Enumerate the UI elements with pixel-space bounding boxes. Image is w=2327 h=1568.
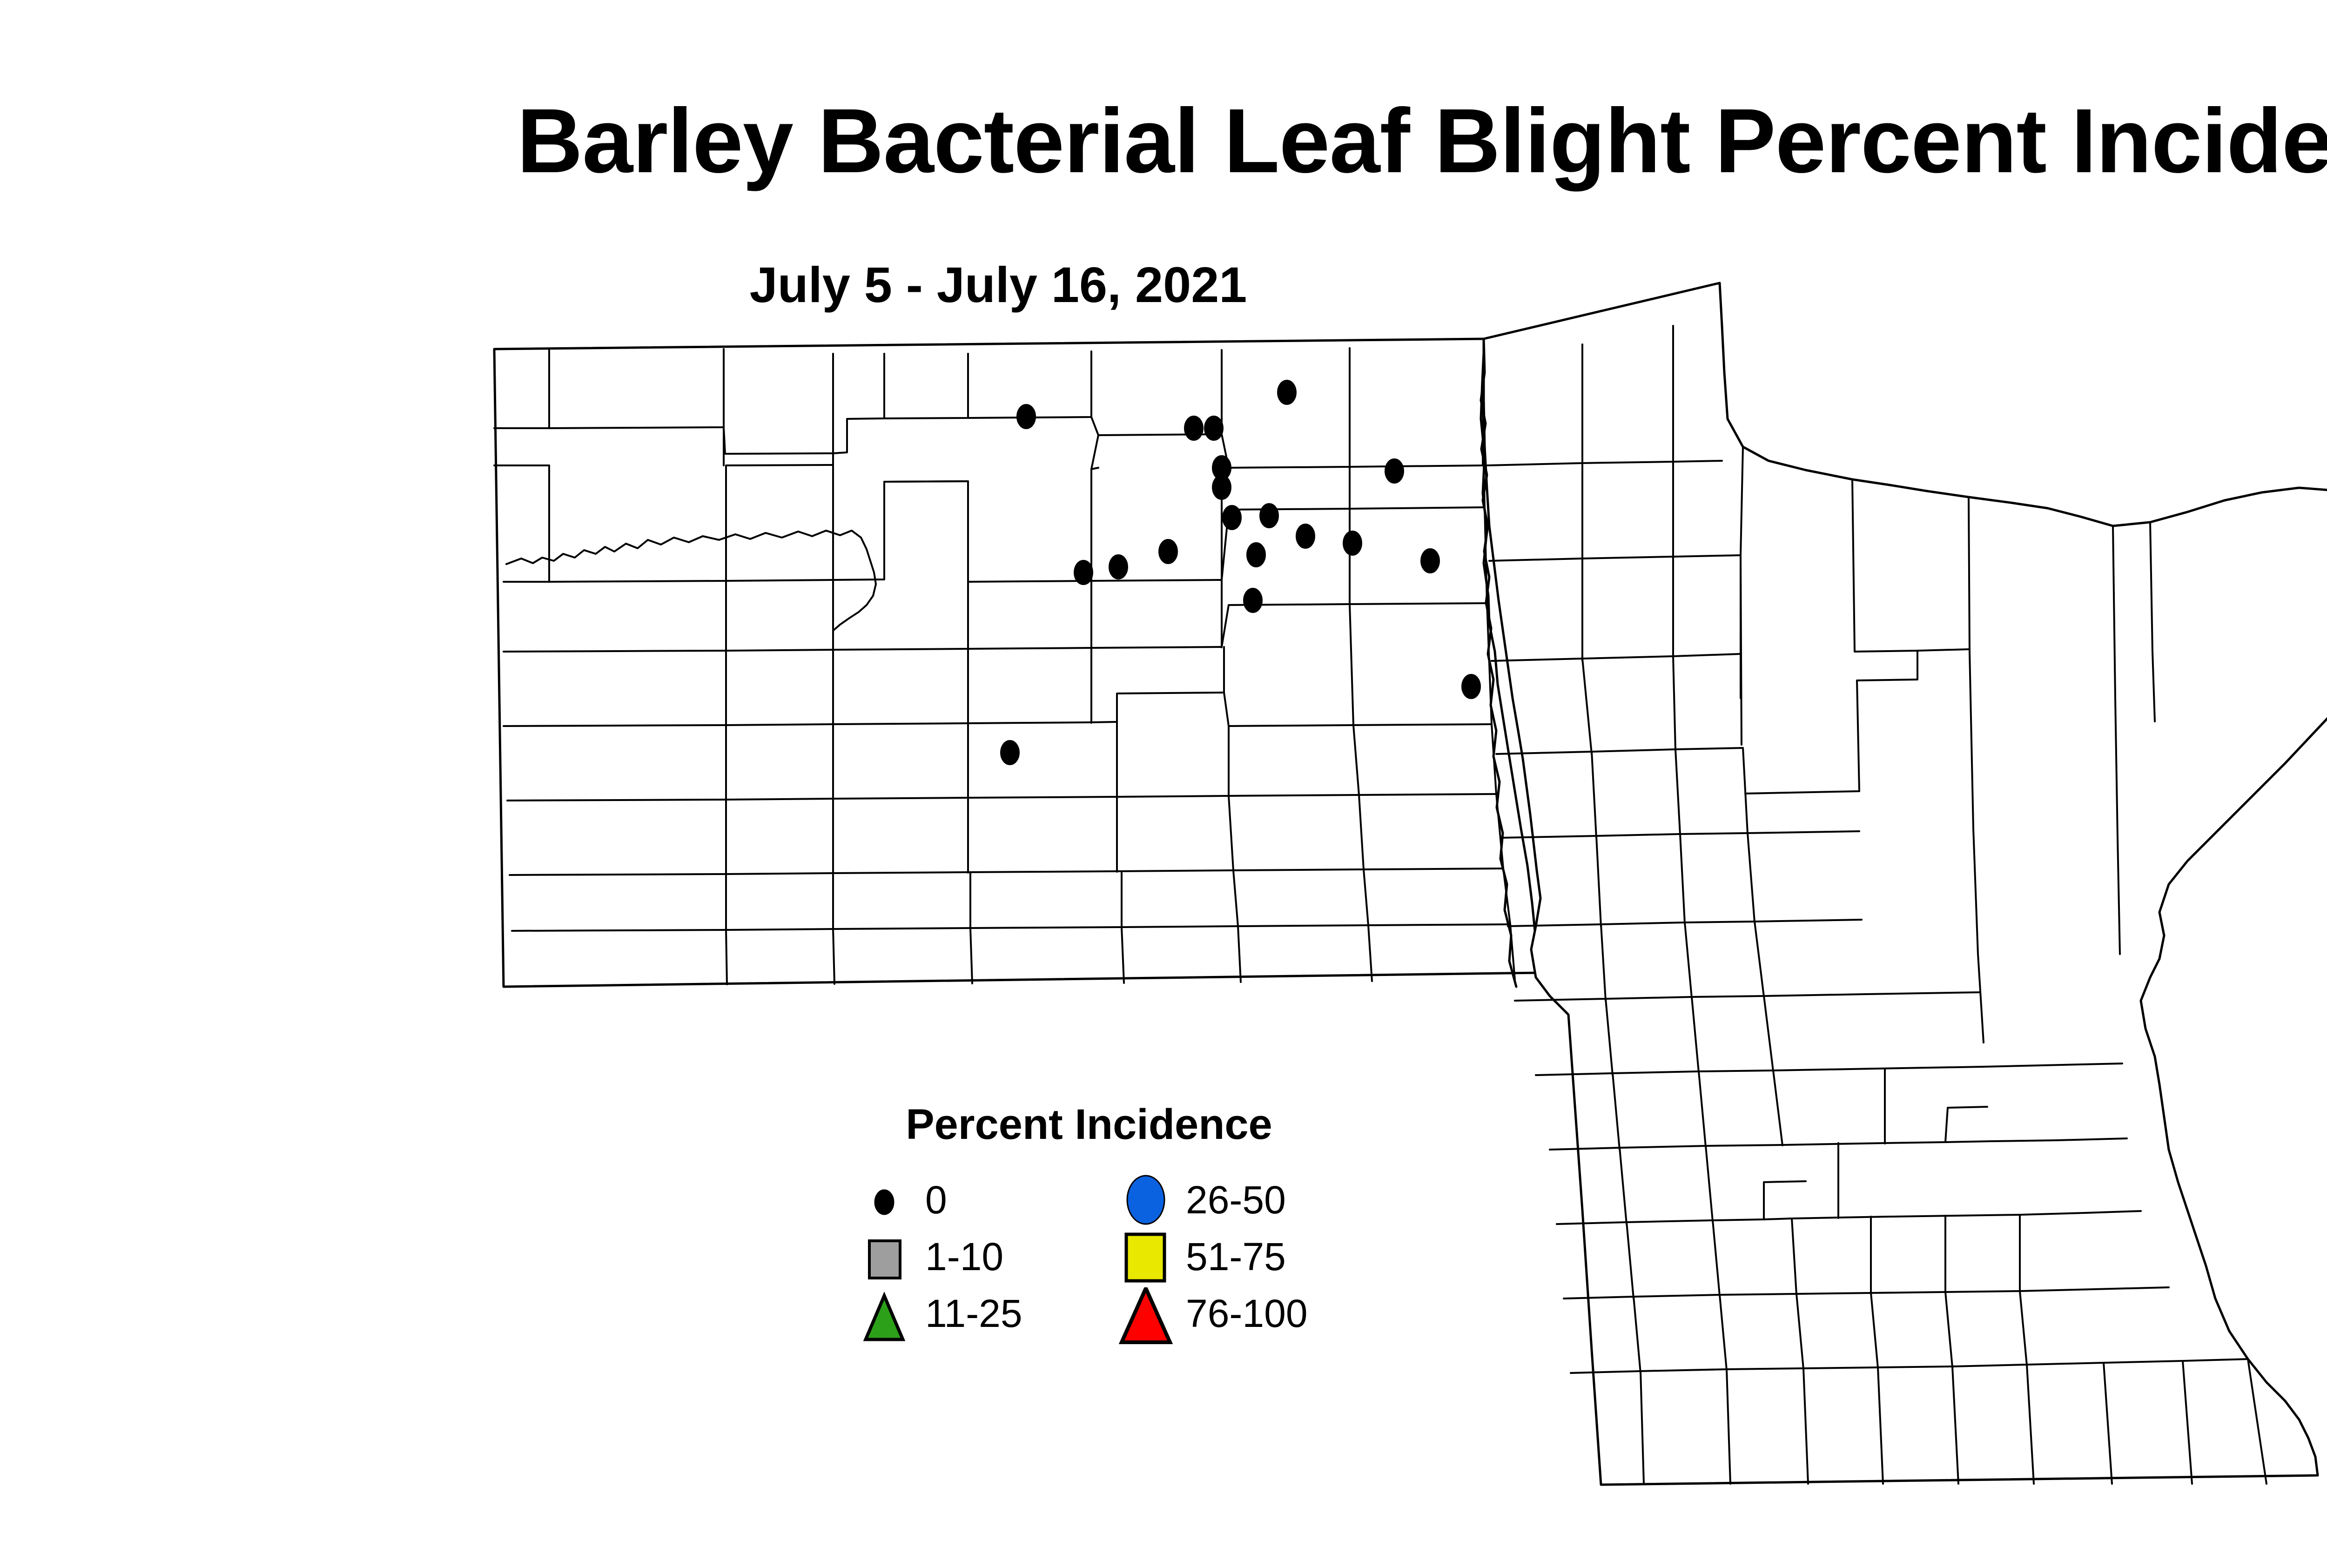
legend-title: Percent Incidence xyxy=(856,1103,1322,1146)
map-layer-counties xyxy=(494,283,2327,1485)
map-data-point[interactable] xyxy=(1212,475,1231,499)
legend-label-26-50: 26-50 xyxy=(1186,1180,1286,1219)
map-data-point[interactable] xyxy=(1204,416,1223,440)
map-data-point[interactable] xyxy=(1244,588,1262,612)
map-data-point[interactable] xyxy=(1421,549,1439,573)
map-data-point[interactable] xyxy=(1017,404,1036,429)
legend-label-1-10: 1-10 xyxy=(925,1237,1003,1276)
triangle-icon-green xyxy=(856,1287,917,1344)
circle-icon-black xyxy=(856,1174,917,1231)
legend-item-1-10[interactable]: 1-10 xyxy=(856,1231,1098,1287)
legend: Percent Incidence 0 xyxy=(856,1103,1350,1373)
map-data-point[interactable] xyxy=(1223,505,1241,530)
legend-column-right: 26-50 51-75 76-1 xyxy=(1117,1174,1359,1344)
map-data-point[interactable] xyxy=(1001,740,1019,765)
square-icon-yellow xyxy=(1117,1231,1177,1287)
map-data-point[interactable] xyxy=(1260,504,1278,528)
circle-icon-blue xyxy=(1117,1174,1177,1231)
map-data-point[interactable] xyxy=(1385,459,1404,483)
map-data-point[interactable] xyxy=(1074,560,1093,585)
map-data-point[interactable] xyxy=(1296,524,1315,548)
triangle-icon-red xyxy=(1117,1287,1177,1344)
map-data-point[interactable] xyxy=(1462,674,1480,699)
map-data-point[interactable] xyxy=(1184,416,1203,440)
legend-label-11-25: 11-25 xyxy=(925,1294,1022,1333)
map-data-point[interactable] xyxy=(1109,555,1128,579)
square-icon-gray xyxy=(856,1231,917,1287)
map-data-point[interactable] xyxy=(1278,380,1296,404)
state-outline-north-dakota xyxy=(494,339,1540,987)
map-figure: Barley Bacterial Leaf Blight Percent Inc… xyxy=(0,0,2327,1568)
legend-item-11-25[interactable]: 11-25 xyxy=(856,1287,1098,1344)
map-data-point[interactable] xyxy=(1247,543,1265,567)
map-data-point[interactable] xyxy=(1343,531,1362,555)
legend-label-76-100: 76-100 xyxy=(1186,1294,1308,1333)
map-data-point[interactable] xyxy=(1159,539,1177,564)
legend-item-76-100[interactable]: 76-100 xyxy=(1117,1287,1359,1344)
legend-label-0: 0 xyxy=(925,1180,947,1219)
legend-item-26-50[interactable]: 26-50 xyxy=(1117,1174,1359,1231)
legend-item-51-75[interactable]: 51-75 xyxy=(1117,1231,1359,1287)
legend-label-51-75: 51-75 xyxy=(1186,1237,1286,1276)
legend-column-left: 0 1-10 11-25 xyxy=(856,1174,1098,1344)
legend-item-0[interactable]: 0 xyxy=(856,1174,1098,1231)
